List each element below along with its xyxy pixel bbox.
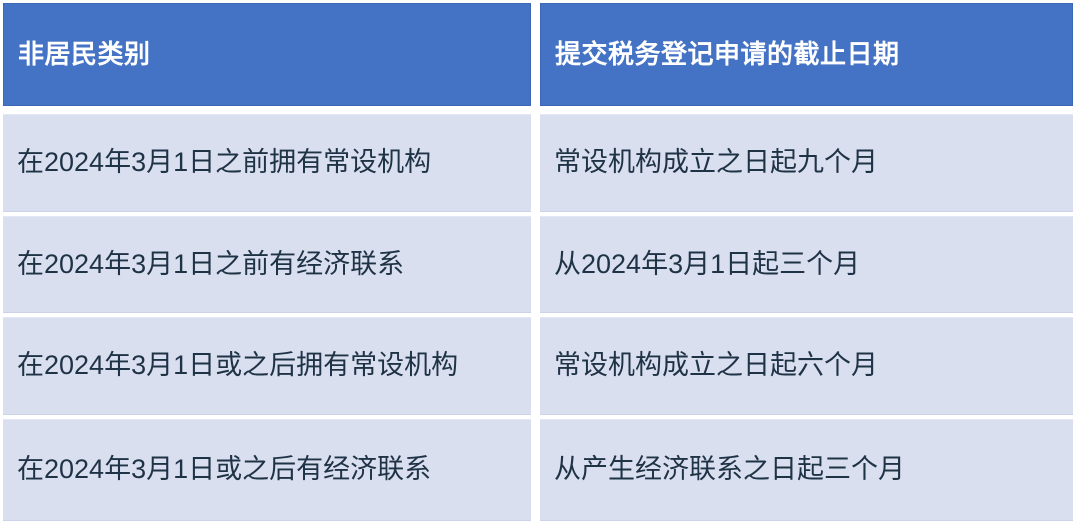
- table-header-cell-category: 非居民类别: [3, 3, 531, 106]
- table-cell-category: 在2024年3月1日或之后有经济联系: [3, 419, 531, 521]
- table-cell-text-deadline: 常设机构成立之日起九个月: [540, 146, 878, 180]
- table-cell-category: 在2024年3月1日或之后拥有常设机构: [3, 317, 531, 415]
- table-cell-text-deadline: 从2024年3月1日起三个月: [540, 248, 860, 282]
- tax-registration-deadline-table: 非居民类别 提交税务登记申请的截止日期 在2024年3月1日之前拥有常设机构 常…: [0, 0, 1080, 521]
- table-cell-text-deadline: 常设机构成立之日起六个月: [540, 349, 878, 383]
- table-cell-text-deadline: 从产生经济联系之日起三个月: [540, 453, 905, 487]
- table-header-label-deadline: 提交税务登记申请的截止日期: [541, 39, 900, 70]
- table-row: 在2024年3月1日之前有经济联系 从2024年3月1日起三个月: [3, 216, 1073, 314]
- table-header-cell-deadline: 提交税务登记申请的截止日期: [540, 3, 1073, 106]
- table-cell-deadline: 常设机构成立之日起六个月: [540, 317, 1073, 415]
- table-cell-text-category: 在2024年3月1日之前有经济联系: [3, 248, 404, 282]
- table-cell-deadline: 从2024年3月1日起三个月: [540, 216, 1073, 314]
- table-header-label-category: 非居民类别: [4, 39, 151, 70]
- table-cell-deadline: 从产生经济联系之日起三个月: [540, 419, 1073, 521]
- table-cell-deadline: 常设机构成立之日起九个月: [540, 114, 1073, 212]
- table-cell-category: 在2024年3月1日之前有经济联系: [3, 216, 531, 314]
- table-row: 在2024年3月1日之前拥有常设机构 常设机构成立之日起九个月: [3, 114, 1073, 212]
- table-cell-category: 在2024年3月1日之前拥有常设机构: [3, 114, 531, 212]
- table-cell-text-category: 在2024年3月1日或之后拥有常设机构: [3, 349, 458, 383]
- table-row: 在2024年3月1日或之后有经济联系 从产生经济联系之日起三个月: [3, 419, 1073, 521]
- table-cell-text-category: 在2024年3月1日或之后有经济联系: [3, 453, 431, 487]
- table-header-row: 非居民类别 提交税务登记申请的截止日期: [3, 3, 1073, 106]
- table-cell-text-category: 在2024年3月1日之前拥有常设机构: [3, 146, 431, 180]
- table-row: 在2024年3月1日或之后拥有常设机构 常设机构成立之日起六个月: [3, 317, 1073, 415]
- table-grid: 非居民类别 提交税务登记申请的截止日期 在2024年3月1日之前拥有常设机构 常…: [3, 3, 1073, 521]
